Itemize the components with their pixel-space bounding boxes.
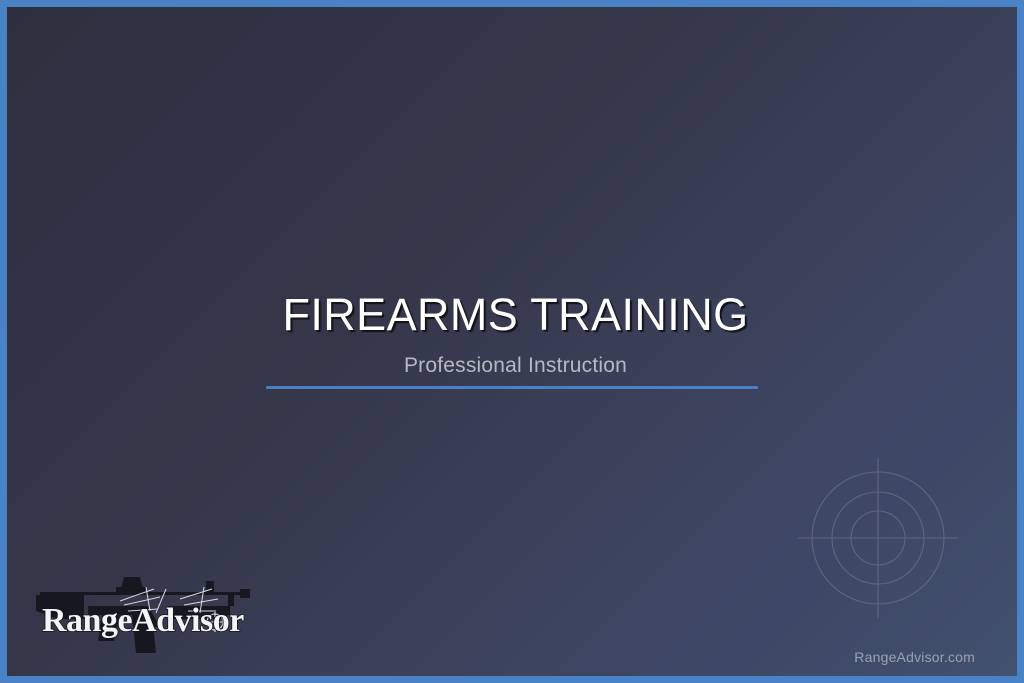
title-accent-rule (266, 386, 758, 389)
page-subtitle: Professional Instruction (7, 354, 1017, 377)
page-title: FIREARMS TRAINING (7, 291, 1017, 340)
brand-logo[interactable]: RangeAdvisor (28, 565, 260, 653)
footer-url: RangeAdvisor.com (854, 649, 975, 665)
logo-wordmark: RangeAdvisor (42, 602, 244, 639)
crosshair-target-icon (798, 458, 958, 618)
presentation-slide: FIREARMS TRAINING Professional Instructi… (0, 0, 1024, 683)
title-block: FIREARMS TRAINING Professional Instructi… (7, 291, 1017, 377)
slide-canvas: FIREARMS TRAINING Professional Instructi… (7, 7, 1017, 676)
